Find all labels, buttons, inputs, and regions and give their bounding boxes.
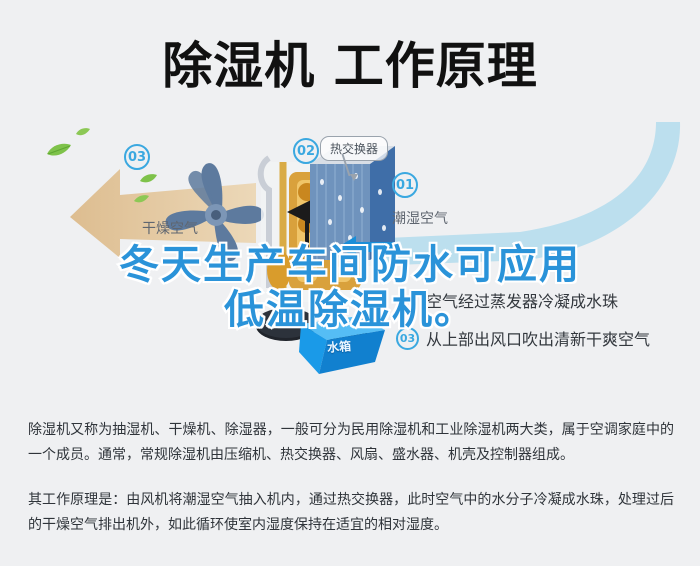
page-title: 除湿机 工作原理 [0, 26, 700, 98]
infographic-page: 除湿机 工作原理 [0, 0, 700, 566]
step-bullet-03-text: 从上部出风口吹出清新干爽空气 [426, 326, 650, 350]
step-bullet-03: 03 从上部出风口吹出清新干爽空气 [396, 326, 696, 350]
step-badge-03: 03 [124, 144, 150, 170]
body-paragraph-1: 除湿机又称为抽湿机、干燥机、除湿器，一般可分为民用除湿机和工业除湿机两大类，属于… [28, 418, 674, 468]
step-bullet-02-text: 空气经过蒸发器冷凝成水珠 [426, 288, 618, 312]
air-intake-arrow-icon [338, 234, 400, 260]
article-body: 除湿机又称为抽湿机、干燥机、除湿器，一般可分为民用除湿机和工业除湿机两大类，属于… [28, 418, 674, 538]
heat-exchanger-callout: 热交换器 [320, 136, 388, 161]
leaf-icon [140, 173, 157, 184]
step-bullet-list: 02 空气经过蒸发器冷凝成水珠 03 从上部出风口吹出清新干爽空气 [396, 288, 696, 364]
step-badge-02: 02 [293, 138, 319, 164]
leaf-icon [76, 127, 90, 137]
step-badge-01: 01 [392, 172, 418, 198]
dry-air-label: 干燥空气 [142, 218, 198, 238]
callout-tip-icon [350, 174, 358, 181]
humid-air-label: 潮湿空气 [392, 208, 448, 228]
body-paragraph-2: 其工作原理是：由风机将潮湿空气抽入机内，通过热交换器，此时空气中的水分子冷凝成水… [28, 488, 674, 538]
water-tank-label: 水箱 [326, 337, 351, 356]
working-principle-diagram: 水箱 03 02 01 热交换器 干燥空气 潮湿空气 [0, 120, 700, 410]
leaf-icon [46, 142, 72, 158]
step-bullet-02: 02 空气经过蒸发器冷凝成水珠 [396, 288, 696, 312]
leaf-icon [134, 194, 149, 204]
step-bullet-03-number: 03 [396, 327, 419, 350]
